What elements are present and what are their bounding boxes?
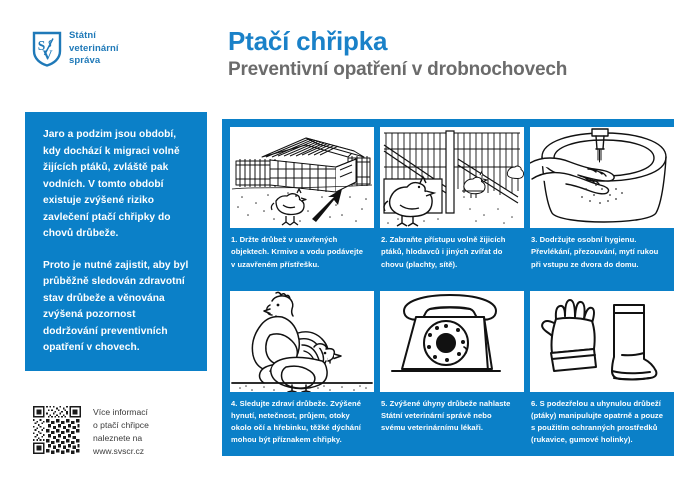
prevention-step-6: 6. S podezřelou a uhynulou drůbeží (pták… [527,288,677,452]
footer-website-url[interactable]: www.svscr.cz [93,445,149,458]
prevention-step-2-caption: 2. Zabraňte přístupu volně žijicích pták… [380,228,524,271]
title-block: Ptačí chřipka Preventivní opatření v dro… [228,27,567,80]
hands-washing-under-tap-in-basin-icon [530,127,674,228]
footer-line-1: Více informací [93,406,149,419]
rooster-and-hen-icon [230,291,374,392]
prevention-step-3-caption: 3. Dodržujte osobní hygienu. Převlékání,… [530,228,674,271]
prevention-step-6-caption: 6. S podezřelou a uhynulou drůbeží (pták… [530,392,674,447]
prevention-step-3: 3. Dodržujte osobní hygienu. Převlékání,… [527,124,677,288]
intro-paragraph-1: Jaro a podzim jsou období, kdy dochází k… [43,127,193,243]
prevention-step-5: 5. Zvýšené úhyny drůbeže nahlaste Státní… [377,288,527,452]
intro-paragraph-2: Proto je nutné zajistit, aby byl průběžn… [43,258,193,357]
organization-name: Státní veterinární správa [69,30,119,68]
rotary-dial-telephone-icon [380,291,524,392]
chickens-behind-fence-barrier-icon [380,127,524,228]
footer-more-info: Více informací o ptačí chřipce naleznete… [33,406,149,458]
protective-glove-and-rubber-boot-icon [530,291,674,392]
intro-panel: Jaro a podzim jsou období, kdy dochází k… [25,112,207,371]
prevention-step-4: 4. Sledujte zdraví drůbeže. Zvýšené hynu… [227,288,377,452]
footer-line-2: o ptačí chřipce [93,419,149,432]
shield-sv-caduceus-logo-icon: S V [32,31,62,67]
footer-line-3: naleznete na [93,432,149,445]
qr-code-icon[interactable] [33,406,81,454]
prevention-step-2: 2. Zabraňte přístupu volně žijicích pták… [377,124,527,288]
logo-line-3: správa [69,55,119,68]
footer-text: Více informací o ptačí chřipce naleznete… [93,406,149,458]
logo-line-2: veterinární [69,43,119,56]
prevention-step-5-caption: 5. Zvýšené úhyny drůbeže nahlaste Státní… [380,392,524,435]
prevention-step-1: 1. Držte drůbež v uzavřených objektech. … [227,124,377,288]
page-title: Ptačí chřipka [228,27,567,56]
logo-line-1: Státní [69,30,119,43]
prevention-step-1-caption: 1. Držte drůbež v uzavřených objektech. … [230,228,374,271]
organization-logo: S V Státní veterinární správa [32,30,119,68]
prevention-step-4-caption: 4. Sledujte zdraví drůbeže. Zvýšené hynu… [230,392,374,447]
page-header: S V Státní veterinární správa Ptačí chři… [0,0,700,108]
page-subtitle: Preventivní opatření v drobnochovech [228,59,567,81]
prevention-steps-grid: 1. Držte drůbež v uzavřených objektech. … [222,119,674,456]
poultry-house-with-fence-chicken-arrow-icon [230,127,374,228]
